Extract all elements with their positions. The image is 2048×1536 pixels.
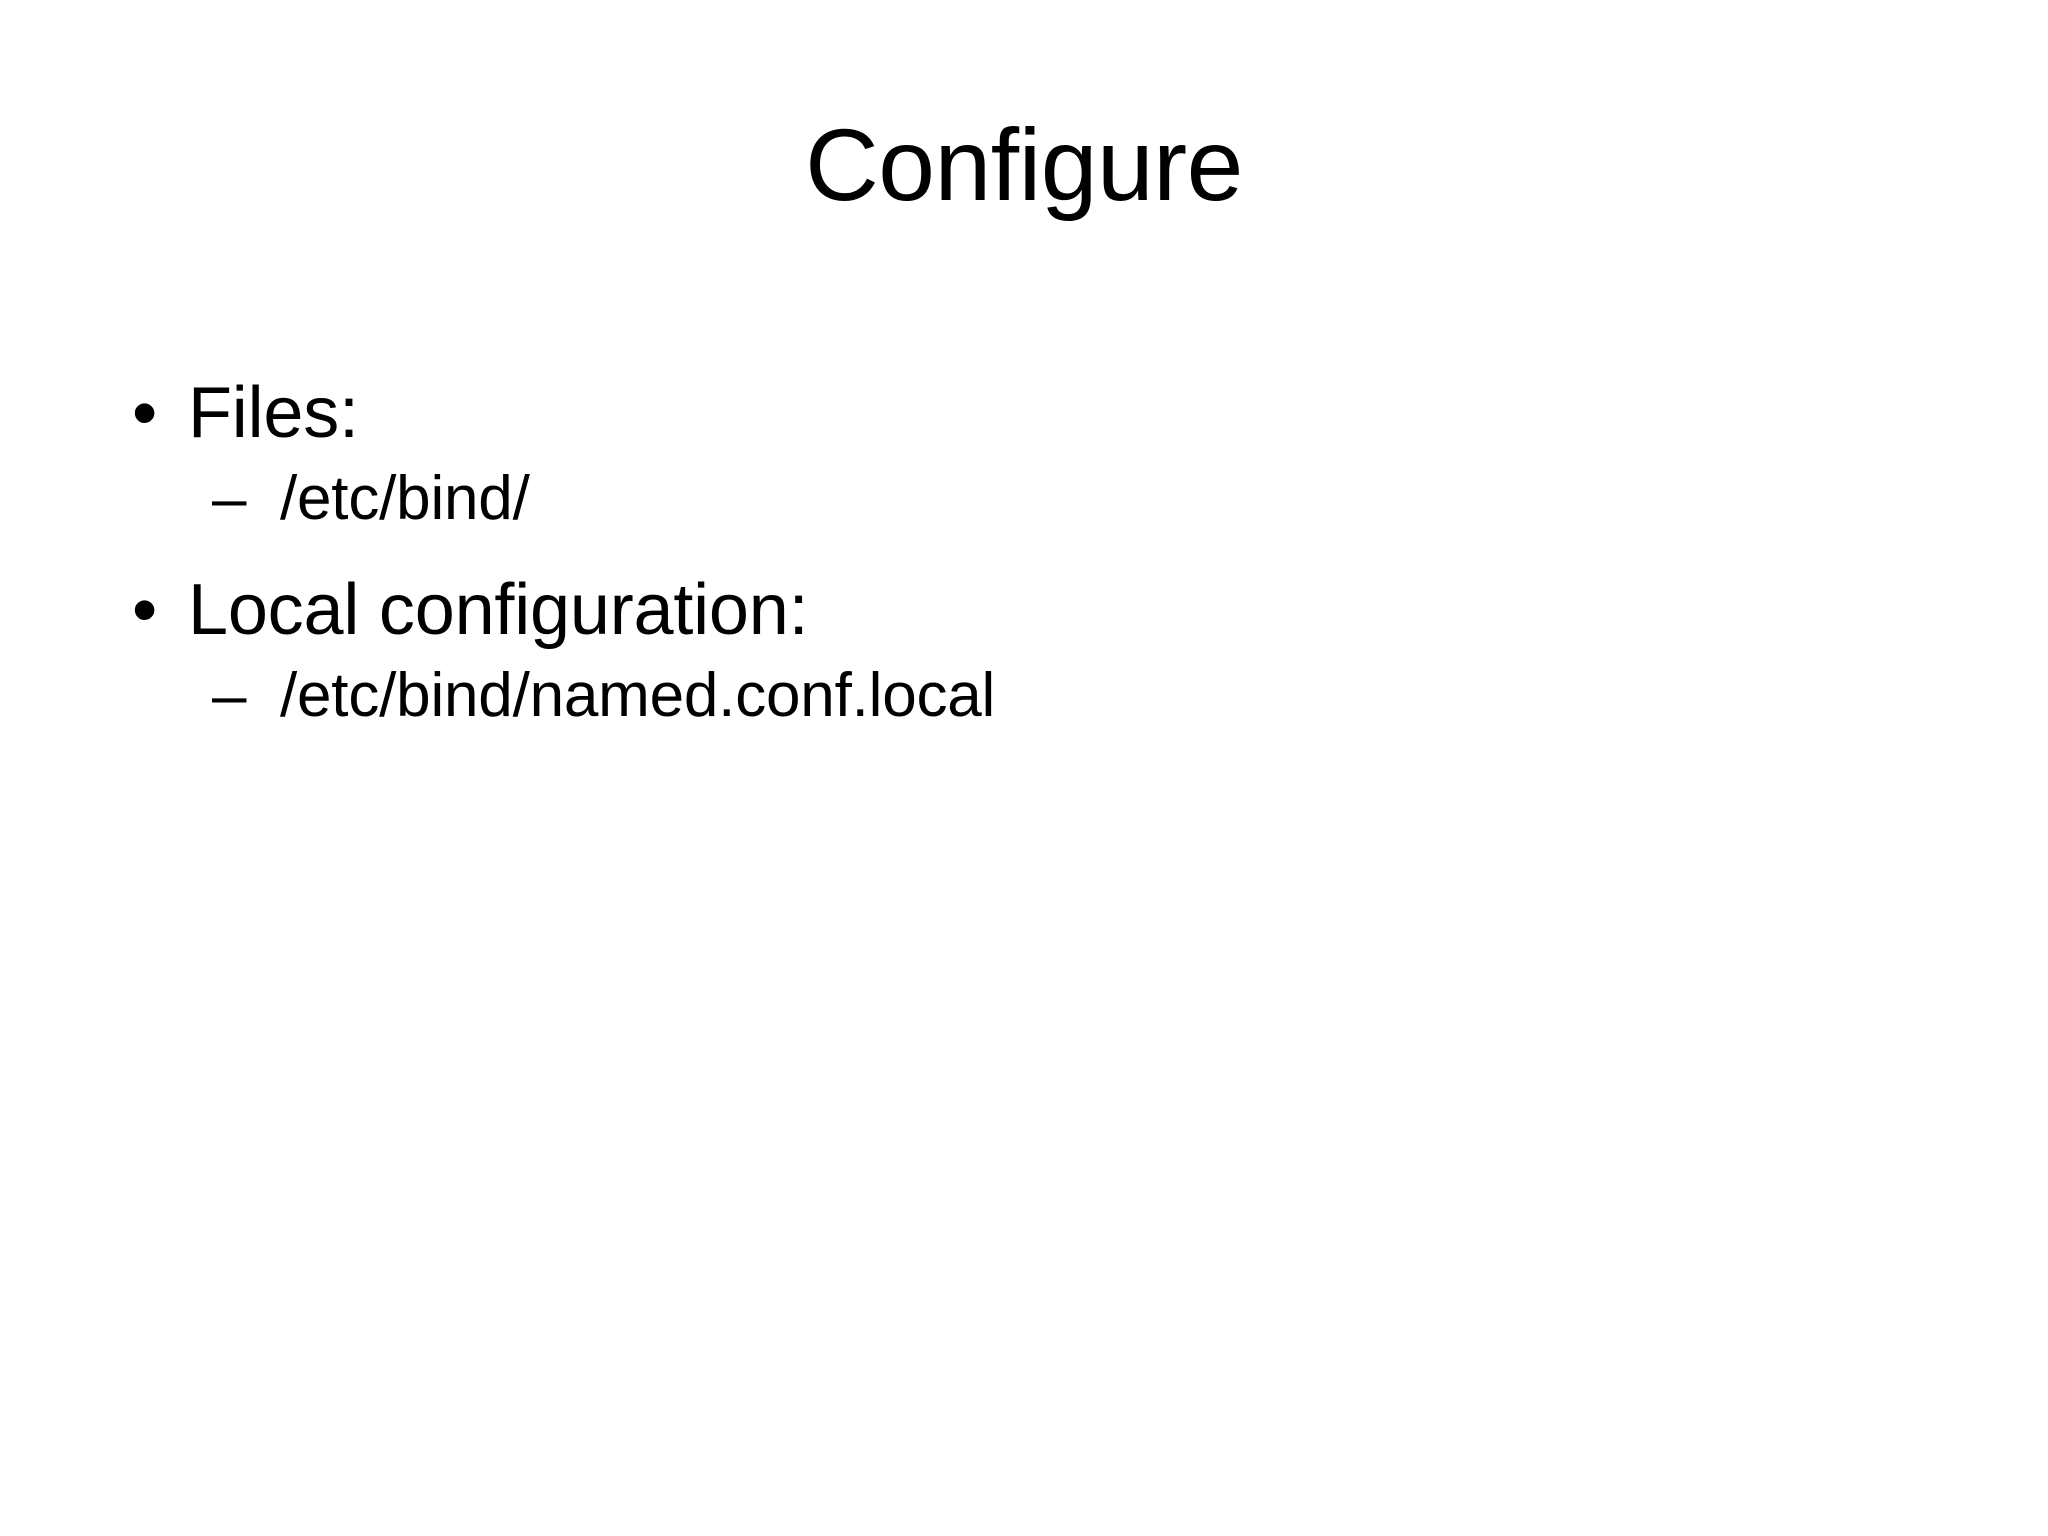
bullet-text: Files:: [188, 372, 359, 454]
bullet-item-etc-bind: – /etc/bind/: [120, 464, 1940, 535]
bullet-item-files: • Files:: [120, 372, 1940, 454]
round-bullet-icon: •: [120, 372, 188, 454]
slide-title: Configure: [0, 108, 2048, 222]
slide-body-content: • Files: – /etc/bind/ • Local configurat…: [120, 372, 1940, 732]
en-dash-bullet-icon: –: [212, 661, 280, 732]
bullet-text: /etc/bind/: [280, 464, 530, 535]
en-dash-bullet-icon: –: [212, 464, 280, 535]
bullet-text: /etc/bind/named.conf.local: [280, 661, 995, 732]
bullet-item-local-configuration: • Local configuration:: [120, 569, 1940, 651]
bullet-item-named-conf-local: – /etc/bind/named.conf.local: [120, 661, 1940, 732]
bullet-text: Local configuration:: [188, 569, 808, 651]
presentation-slide: Configure • Files: – /etc/bind/ • Local …: [0, 0, 2048, 1536]
round-bullet-icon: •: [120, 569, 188, 651]
bullet-group-spacer: [120, 535, 1940, 569]
